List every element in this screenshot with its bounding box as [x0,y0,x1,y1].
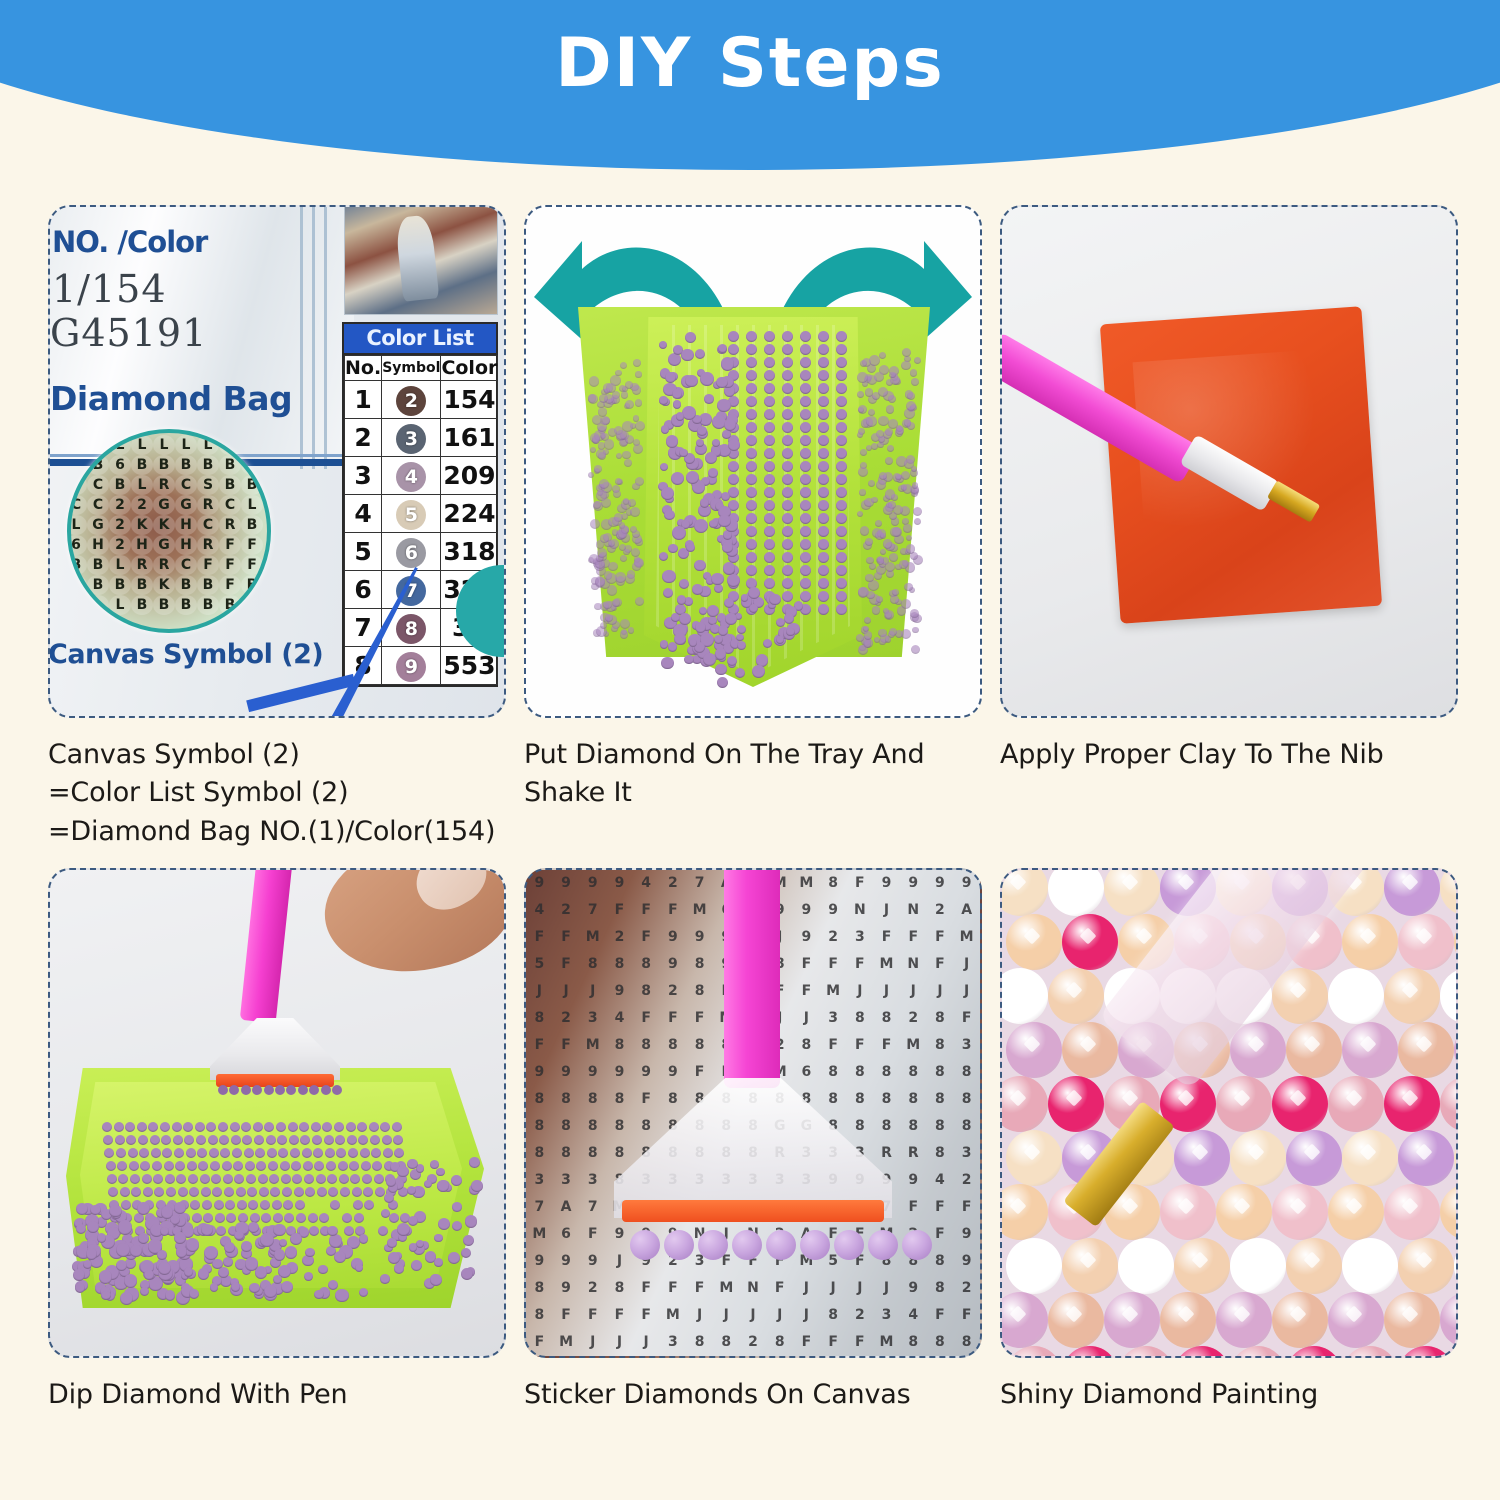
canvas-symbol-cell: 3 [953,1140,980,1167]
canvas-symbol-cell: 2 [953,1275,980,1302]
diamond-gem [1342,1022,1398,1078]
canvas-symbol-cell: 8 [686,978,713,1005]
diamond-bead [615,370,621,376]
diamond-bead [737,625,746,634]
canvas-symbol-cell: F [526,1032,553,1059]
diamond-bead [746,409,757,420]
diamond-bead [276,1122,286,1132]
step-caption-canvas-symbol: Canvas Symbol (2) =Color List Symbol (2)… [48,736,506,868]
diamond-bead [865,574,873,582]
canvas-symbol-cell: C [87,495,109,515]
diamond-bead [245,1257,259,1271]
diamond-bead [224,1242,235,1253]
canvas-symbol-cell: B [153,455,175,475]
diamond-bead [912,627,918,633]
diamond-bead [236,1187,246,1197]
diamond-bead [782,396,793,407]
canvas-symbol-cell: 2 [606,924,633,951]
caption-line: =Color List Symbol (2) [48,774,506,812]
canvas-symbol-cell: 8 [686,1329,713,1356]
diamond-gem [1000,1184,1048,1240]
diamond-bead [130,1174,140,1184]
diamond-bead [632,530,640,538]
canvas-symbol-cell: M [820,978,847,1005]
diamond-bead [75,1283,85,1293]
canvas-symbol-cell: F [793,951,820,978]
diamond-bead [746,474,757,485]
diamond-bead [800,344,811,355]
canvas-symbol-cell: 2 [109,515,131,535]
canvas-symbol-cell: F [820,1329,847,1356]
diamond-bead [860,526,870,536]
diamond-bead [99,1270,113,1284]
diamond-bead [164,1161,174,1171]
canvas-symbol-cell: F [633,1005,660,1032]
canvas-symbol-cell: J [633,1329,660,1356]
diamond-gem [1272,968,1328,1024]
canvas-symbol-cell: M [793,870,820,897]
canvas-symbol-cell: 6 [67,535,87,555]
canvas-symbol-cell: 3 [553,1167,580,1194]
diamond-bead [764,461,775,472]
diamond-bead [87,1221,99,1233]
diamond-bead [836,383,847,394]
diamond-bead [872,606,881,615]
diamond-bead [836,370,847,381]
diamond-bead [212,1259,222,1269]
diamond-bead [241,1241,252,1252]
diamond-bead [612,529,619,536]
diamond-bead [635,399,642,406]
diamond-bead [295,1200,305,1210]
diamond-bead [625,400,634,409]
diamond-bead [330,1200,340,1210]
canvas-symbol-cell: 9 [553,1059,580,1086]
canvas-symbol-cell: F [553,951,580,978]
canvas-symbol-cell: 8 [927,1329,954,1356]
canvas-symbol-cell: 3 [526,1167,553,1194]
diamond-bead [692,584,702,594]
col-header-no: No. [345,356,382,381]
diamond-bead [904,583,912,591]
diamond-bead [782,500,793,511]
diamond-bead [452,1202,461,1211]
diamond-bead [157,1250,167,1260]
diamond-bead [903,484,912,493]
canvas-symbol-cell: 8 [526,1113,553,1140]
diamond-bead [120,1187,130,1197]
diamond-bead [254,1135,264,1145]
diamond-bead [130,1245,141,1256]
canvas-symbol-cell: B [131,455,153,475]
diamond-bead [184,1267,194,1277]
diamond-bead [746,565,757,576]
diamond-bead [800,461,811,472]
canvas-symbol-cell: 8 [927,1059,954,1086]
hand-finger [313,868,506,988]
diamond-bead [374,1174,384,1184]
diamond-bead [782,552,793,563]
canvas-symbol-cell: M [713,1275,740,1302]
diamond-bead [746,383,757,394]
canvas-symbol-cell: F [846,1032,873,1059]
diamond-gem [1384,868,1440,916]
diamond-bead [782,331,793,342]
diamond-bead [246,1174,256,1184]
canvas-symbol-cell: 8 [927,1005,954,1032]
canvas-symbol-cell: A [953,897,980,924]
canvas-symbol-cell: F [793,978,820,1005]
canvas-symbol-cell: B [219,475,241,495]
diamond-bead [800,487,811,498]
diamond-bead [746,513,757,524]
diamond-gem [1454,1346,1458,1358]
canvas-symbol-cell: H [131,535,153,555]
diamond-bead [764,357,775,368]
diamond-bead [746,526,757,537]
canvas-symbol-cell: B [175,595,197,615]
placed-diamond-bead [698,1230,728,1260]
canvas-symbol-cell: 8 [526,1302,553,1329]
placed-diamond-bead [766,1230,796,1260]
diamond-bead [592,435,600,443]
canvas-symbol-cell: 2 [927,897,954,924]
diamond-bead [782,461,793,472]
diamond-bead [746,370,757,381]
diamond-bead [886,379,893,386]
diamond-bead [245,1161,255,1171]
diamond-gem [1454,1130,1458,1186]
canvas-symbol-cell: F [900,1194,927,1221]
canvas-symbol-cell: B [67,575,87,595]
diamond-bead [210,1283,219,1292]
diamond-bead [597,422,607,432]
diamond-bead [764,565,775,576]
canvas-symbol-cell: J [526,978,553,1005]
canvas-symbol-cell: 8 [606,1113,633,1140]
diamond-bead [290,1148,300,1158]
diamond-bead [818,357,829,368]
canvas-symbol-cell: A [553,1194,580,1221]
diamond-bead [782,539,793,550]
canvas-symbol-cell: 8 [660,1032,687,1059]
diamond-bead [764,552,775,563]
diamond-bead [237,1200,247,1210]
diamond-bead [201,1187,211,1197]
diamond-bead [160,1122,170,1132]
diamond-bead [865,388,873,396]
canvas-symbol-cell: J [766,1302,793,1329]
diamond-bead [173,1135,183,1145]
canvas-symbol-cell: 9 [606,1059,633,1086]
diamond-bead [864,498,874,508]
diamond-bead [174,1202,186,1214]
diamond-gem [1000,968,1048,1024]
diamond-bead [671,472,684,485]
diamond-bead [340,1187,350,1197]
diamond-bead [913,507,922,516]
fingernail [405,868,496,921]
diamond-bead [115,1135,125,1145]
canvas-symbol-cell: F [579,1302,606,1329]
canvas-symbol-cell: 8 [579,951,606,978]
diamond-bead [187,1161,197,1171]
diamond-bead [818,591,829,602]
canvas-symbol-cell: R [153,475,175,495]
diamond-bead [260,1200,270,1210]
diamond-bead [879,352,886,359]
canvas-symbol-cell: 3 [660,1329,687,1356]
diamond-bead [201,1224,213,1236]
canvas-symbol-cell: F [927,951,954,978]
diamond-bead [836,526,847,537]
diamond-gem [1048,968,1104,1024]
canvas-symbol-cell: B [87,455,109,475]
diamond-bead [746,357,757,368]
step-photo-put-diamond-on-tray [524,205,982,718]
diamond-bead [715,648,726,659]
step-caption-sticker-diamonds: Sticker Diamonds On Canvas [524,1376,982,1494]
diamond-bead [818,487,829,498]
diamond-bead [273,1213,283,1223]
diamond-gem [1454,1238,1458,1294]
diamond-bead [665,372,676,383]
diamond-bead [249,1283,259,1293]
canvas-symbol-cell: F [633,1275,660,1302]
canvas-symbol-cell: 9 [900,1167,927,1194]
canvas-symbol-cell: 2 [953,1167,980,1194]
canvas-symbol-cell: 8 [606,951,633,978]
cell-symbol: 2 [382,381,441,419]
diamond-bead [800,526,811,537]
diamond-bead [593,501,601,509]
canvas-symbol-cell: F [606,1302,633,1329]
symbol-dot: 4 [396,462,426,492]
diamond-gem [1440,1184,1458,1240]
diamond-bead [686,543,695,552]
step-caption-put-diamond-on-tray: Put Diamond On The Tray And Shake It [524,736,982,854]
diamond-bead [138,1233,149,1244]
canvas-symbol-cell: L [131,475,153,495]
diamond-bead [901,361,910,370]
diamond-bead [836,344,847,355]
canvas-symbol-cell: F [660,897,687,924]
diamond-bead [857,432,863,438]
diamond-gem [1398,1130,1454,1186]
diamond-bead [868,409,875,416]
canvas-symbol-cell: 2 [109,535,131,555]
diamond-bead [234,1231,243,1240]
diamond-gem [1006,1346,1062,1358]
canvas-symbol-cell: R [131,555,153,575]
canvas-symbol-cell: F [553,1302,580,1329]
diamond-gem [1062,1346,1118,1358]
diamond-bead [253,1122,263,1132]
diamond-bead [764,344,775,355]
step-caption-dip-diamond: Dip Diamond With Pen [48,1376,506,1494]
canvas-symbol-cell: 8 [873,1086,900,1113]
diamond-bead [616,430,626,440]
canvas-symbol-cell: 8 [553,1140,580,1167]
canvas-symbol-cell: F [793,1329,820,1356]
canvas-symbol-cell: J [713,1302,740,1329]
diamond-bead [369,1122,379,1132]
canvas-symbol-cell: 9 [660,951,687,978]
canvas-symbol-cell: 8 [606,1032,633,1059]
diamond-bead [906,544,916,554]
canvas-symbol-cell: 7 [526,1194,553,1221]
canvas-symbol-cell: M [900,1032,927,1059]
canvas-symbol-cell: J [686,1302,713,1329]
canvas-symbol-cell: J [873,897,900,924]
canvas-symbol-cell: 9 [900,870,927,897]
canvas-symbol-cell: 8 [686,1032,713,1059]
diamond-bead [741,594,749,602]
canvas-symbol-cell: F [241,555,263,575]
diamond-bead [857,372,868,383]
diamond-bead [746,344,757,355]
canvas-symbol-cell: L [131,435,153,455]
canvas-symbol-cell: F [579,1221,606,1248]
diamond-bead [346,1122,356,1132]
diamond-bead [764,331,775,342]
bag-no-color-header: NO. /Color [52,225,207,259]
diamond-gem [1286,1130,1342,1186]
diamond-bead [836,591,847,602]
canvas-symbol-cell: 8 [820,1302,847,1329]
diamond-bead [140,1287,149,1296]
diamond-bead [705,452,717,464]
diamond-gem [1384,1292,1440,1348]
bag-code-serial: G45191 [50,311,207,355]
canvas-symbol-cell: B [109,475,131,495]
diamond-bead [700,498,709,507]
diamond-bead [782,526,793,537]
canvas-symbol-cell: 8 [766,1329,793,1356]
diamond-bead [836,435,847,446]
diamond-bead [359,1234,369,1244]
diamond-bead [279,1239,287,1247]
diamond-bead [800,539,811,550]
diamond-bead [891,494,898,501]
diamond-gem [1440,1076,1458,1132]
diamond-bead [836,604,847,615]
step-card-canvas-symbol: NO. /Color 1/154 G45191 Diamond Bag LLLL… [48,205,506,868]
diamond-bead [662,570,675,583]
diamond-bead [782,578,793,589]
diamond-bead [764,422,775,433]
diamond-bead [625,381,633,389]
diamond-bead [746,435,757,446]
diamond-bead [685,375,698,388]
diamond-bead [231,1135,241,1145]
canvas-symbol-cell: B [87,575,109,595]
diamond-bead [782,435,793,446]
diamond-bead [818,383,829,394]
bag-seam-line [324,205,327,469]
diamond-bead [128,1148,138,1158]
diamond-bead [866,591,874,599]
diamond-bead [463,1235,474,1246]
canvas-symbol-cell: 9 [606,1221,633,1248]
diamond-gem [1328,1076,1384,1132]
diamond-bead [746,500,757,511]
diamond-bead [673,400,682,409]
canvas-symbol-cell: B [241,475,263,495]
cell-color: 161 [441,419,498,457]
diamond-bead [138,1135,148,1145]
canvas-symbol-cell: 2 [846,1302,873,1329]
diamond-bead [878,387,888,397]
canvas-symbol-cell: J [579,978,606,1005]
diamond-bead [728,331,739,342]
placed-diamond-bead [868,1230,898,1260]
cell-symbol: 4 [382,457,441,495]
diamond-gem [1342,914,1398,970]
canvas-magnifier-circle: LLLLLLLLLBB6BBBBBBCCBLRCSBBCC22GGRCLLG2K… [67,429,271,633]
canvas-symbol-cell: J [606,1329,633,1356]
diamond-bead [605,614,613,622]
diamond-bead [901,599,911,609]
canvas-symbol-cell: M [579,1032,606,1059]
caption-line: Shiny Diamond Painting [1000,1376,1458,1414]
diamond-bead [880,533,886,539]
canvas-symbol-cell: J [579,1329,606,1356]
canvas-symbol-cell: N [740,1275,767,1302]
canvas-symbol-cell: F [219,535,241,555]
canvas-symbol-cell: B [153,595,175,615]
placed-diamond-bead [800,1230,830,1260]
step-photo-canvas-symbol: NO. /Color 1/154 G45191 Diamond Bag LLLL… [48,205,506,718]
diamond-bead [800,474,811,485]
diamond-bead [178,1187,188,1197]
canvas-symbol-cell: L [87,595,109,615]
canvas-symbol-cell: 8 [927,1275,954,1302]
diamond-bead [746,487,757,498]
caption-line: Put Diamond On The Tray And [524,736,982,774]
canvas-symbol-cell: M [579,924,606,951]
diamond-bead [800,578,811,589]
cell-symbol: 9 [382,647,441,685]
canvas-symbol-cell: 8 [900,1086,927,1113]
diamond-bead [137,1122,147,1132]
diamond-bead [890,527,901,538]
diamond-gem [1440,968,1458,1024]
canvas-symbol-cell: L [175,435,197,455]
diamond-bead [259,1187,269,1197]
diamond-bead [681,349,694,362]
diamond-bead [407,1186,416,1195]
diamond-gem [1398,1022,1454,1078]
diamond-bead [764,370,775,381]
diamond-bead [676,412,685,421]
diamond-gem [1230,1022,1286,1078]
canvas-symbol-cell: 8 [660,1086,687,1113]
diamond-bead [818,409,829,420]
diamond-bead [782,448,793,459]
canvas-symbol-cell: J [606,1248,633,1275]
canvas-symbol-cell: F [660,1275,687,1302]
diamond-bead [86,1248,97,1259]
diamond-bead [209,1148,219,1158]
diamond-bead [437,1180,449,1192]
cell-symbol: 3 [382,419,441,457]
diamond-bead [230,1122,240,1132]
canvas-symbol-cell: 2 [131,495,153,515]
canvas-symbol-cell: 2 [579,1275,606,1302]
diamond-bead [907,392,915,400]
diamond-bead [354,1213,364,1223]
